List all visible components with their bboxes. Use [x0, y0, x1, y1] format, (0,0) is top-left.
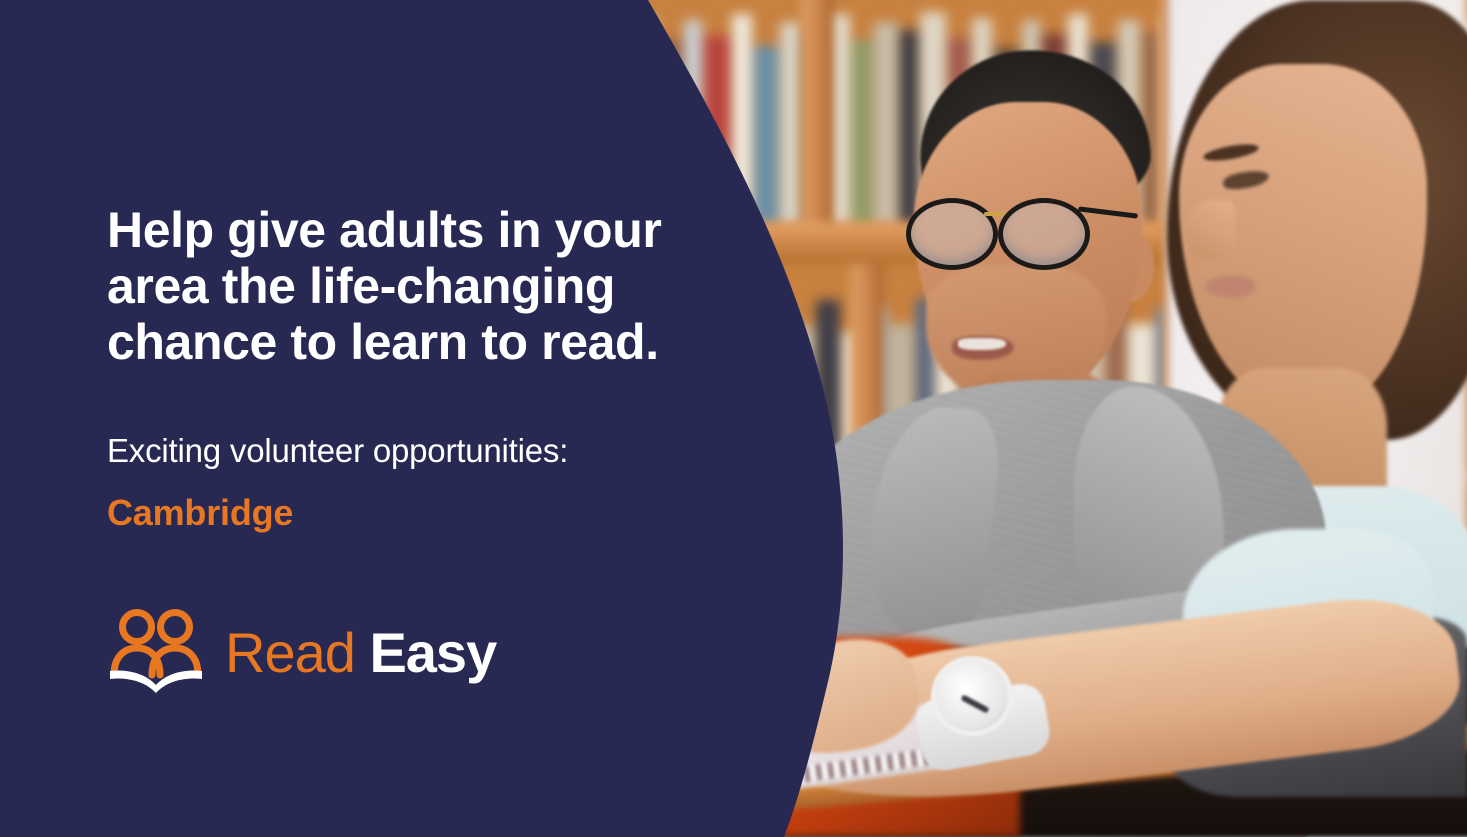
wristwatch-face — [936, 661, 1008, 731]
man-teeth — [958, 338, 1006, 350]
two-readers-open-book-icon — [107, 607, 211, 699]
glasses-bridge — [984, 212, 1006, 216]
subheading: Exciting volunteer opportunities: — [107, 431, 727, 471]
library-photo — [600, 0, 1467, 837]
glasses-lens-right — [998, 198, 1090, 270]
glasses-lens-left — [906, 198, 998, 270]
headline: Help give adults in your area the life-c… — [107, 202, 707, 370]
read-easy-logo[interactable]: Read Easy — [107, 607, 496, 699]
glasses-temple — [1078, 206, 1138, 218]
eyeglasses-icon — [902, 198, 1132, 260]
logo-word-easy: Easy — [369, 621, 496, 684]
read-easy-promo-banner: Help give adults in your area the life-c… — [0, 0, 1467, 837]
banner-content: Help give adults in your area the life-c… — [107, 0, 727, 837]
logo-wordmark: Read Easy — [225, 622, 496, 684]
location-label: Cambridge — [107, 491, 293, 535]
logo-word-read: Read — [225, 621, 355, 684]
